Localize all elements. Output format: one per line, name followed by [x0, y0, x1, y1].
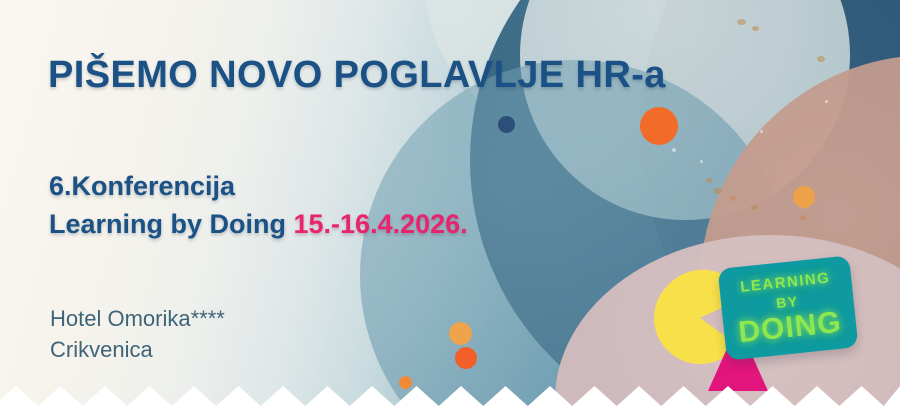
conference-number-label: 6.Konferencija — [49, 171, 235, 201]
speckle-fleck — [751, 205, 758, 210]
speckle-fleck — [737, 19, 746, 25]
subtitle-line-conference: 6.Konferencija — [49, 167, 468, 205]
speckle-fleck — [730, 196, 736, 201]
venue-city-label: Crikvenica — [50, 334, 225, 365]
venue-hotel-label: Hotel Omorika**** — [50, 303, 225, 334]
badge-text-block: LEARNING BY DOING — [718, 255, 859, 360]
subtitle-block: 6.Konferencija Learning by Doing 15.-16.… — [49, 167, 468, 244]
accent-dot-orange-xsmall — [449, 322, 472, 345]
speckle-fleck-white — [672, 148, 676, 152]
speckle-fleck-white — [825, 100, 828, 103]
page-title: PIŠEMO NOVO POGLAVLJE HR-a — [48, 54, 666, 97]
conference-banner: PIŠEMO NOVO POGLAVLJE HR-a 6.Konferencij… — [0, 0, 900, 420]
learning-by-doing-badge[interactable]: LEARNING BY DOING — [718, 255, 859, 360]
venue-block: Hotel Omorika**** Crikvenica — [50, 303, 225, 365]
speckle-fleck — [800, 215, 806, 220]
zigzag-bottom-edge — [0, 374, 900, 420]
speckle-fleck — [817, 56, 825, 62]
speckle-fleck-white — [760, 130, 763, 133]
conference-name-label: Learning by Doing — [49, 209, 294, 239]
speckle-fleck — [752, 26, 759, 31]
speckle-fleck-white — [700, 160, 703, 163]
accent-dot-orange-mid — [455, 347, 477, 369]
conference-date-label: 15.-16.4.2026. — [294, 209, 468, 239]
subtitle-line-name-date: Learning by Doing 15.-16.4.2026. — [49, 205, 468, 243]
accent-dot-orange-small — [793, 186, 815, 208]
accent-dot-orange-large — [640, 107, 678, 145]
speckle-fleck — [713, 188, 722, 194]
speckle-fleck — [706, 178, 713, 183]
accent-dot-navy — [498, 116, 515, 133]
